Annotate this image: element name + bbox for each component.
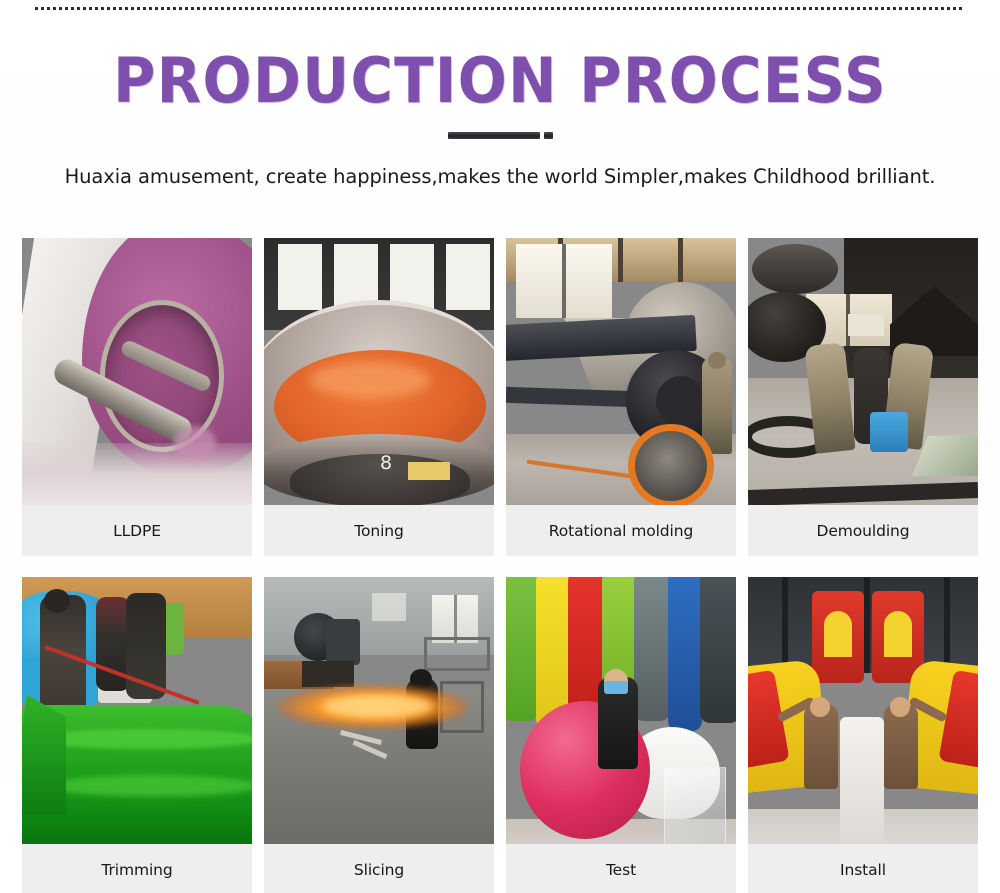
card-caption: Trimming	[22, 844, 252, 893]
card-caption: Toning	[264, 505, 494, 556]
sparks-slicing-workshop-photo	[264, 577, 494, 844]
divider-bar	[448, 132, 540, 139]
process-card[interactable]: LLDPE	[22, 238, 252, 556]
purple-powder-scoop-photo	[22, 238, 252, 505]
divider-dot	[544, 132, 553, 139]
card-caption: Rotational molding	[506, 505, 736, 556]
orange-resin-pan-photo: 8	[264, 238, 494, 505]
production-process-section: PRODUCTION PROCESS Huaxia amusement, cre…	[0, 0, 1000, 893]
card-caption: LLDPE	[22, 505, 252, 556]
section-header: PRODUCTION PROCESS Huaxia amusement, cre…	[0, 0, 1000, 225]
process-card[interactable]: Test	[506, 577, 736, 893]
section-subtitle: Huaxia amusement, create happiness,makes…	[0, 163, 1000, 191]
card-caption: Slicing	[264, 844, 494, 893]
process-card[interactable]: Trimming	[22, 577, 252, 893]
card-caption: Demoulding	[748, 505, 978, 556]
page-title: PRODUCTION PROCESS	[35, 46, 965, 116]
card-caption: Install	[748, 844, 978, 893]
process-card[interactable]: Rotational molding	[506, 238, 736, 556]
card-caption: Test	[506, 844, 736, 893]
workers-demoulding-photo	[748, 238, 978, 505]
process-card[interactable]: Demoulding	[748, 238, 978, 556]
playground-install-photo	[748, 577, 978, 844]
rotomolding-machine-photo	[506, 238, 736, 505]
process-card[interactable]: Slicing	[264, 577, 494, 893]
process-card[interactable]: Install	[748, 577, 978, 893]
title-divider	[0, 130, 1000, 140]
process-card-grid: LLDPE 8 Toning	[22, 238, 978, 893]
process-card[interactable]: 8 Toning	[264, 238, 494, 556]
colorful-slides-test-photo	[506, 577, 736, 844]
worker-trimming-green-slide-photo	[22, 577, 252, 844]
